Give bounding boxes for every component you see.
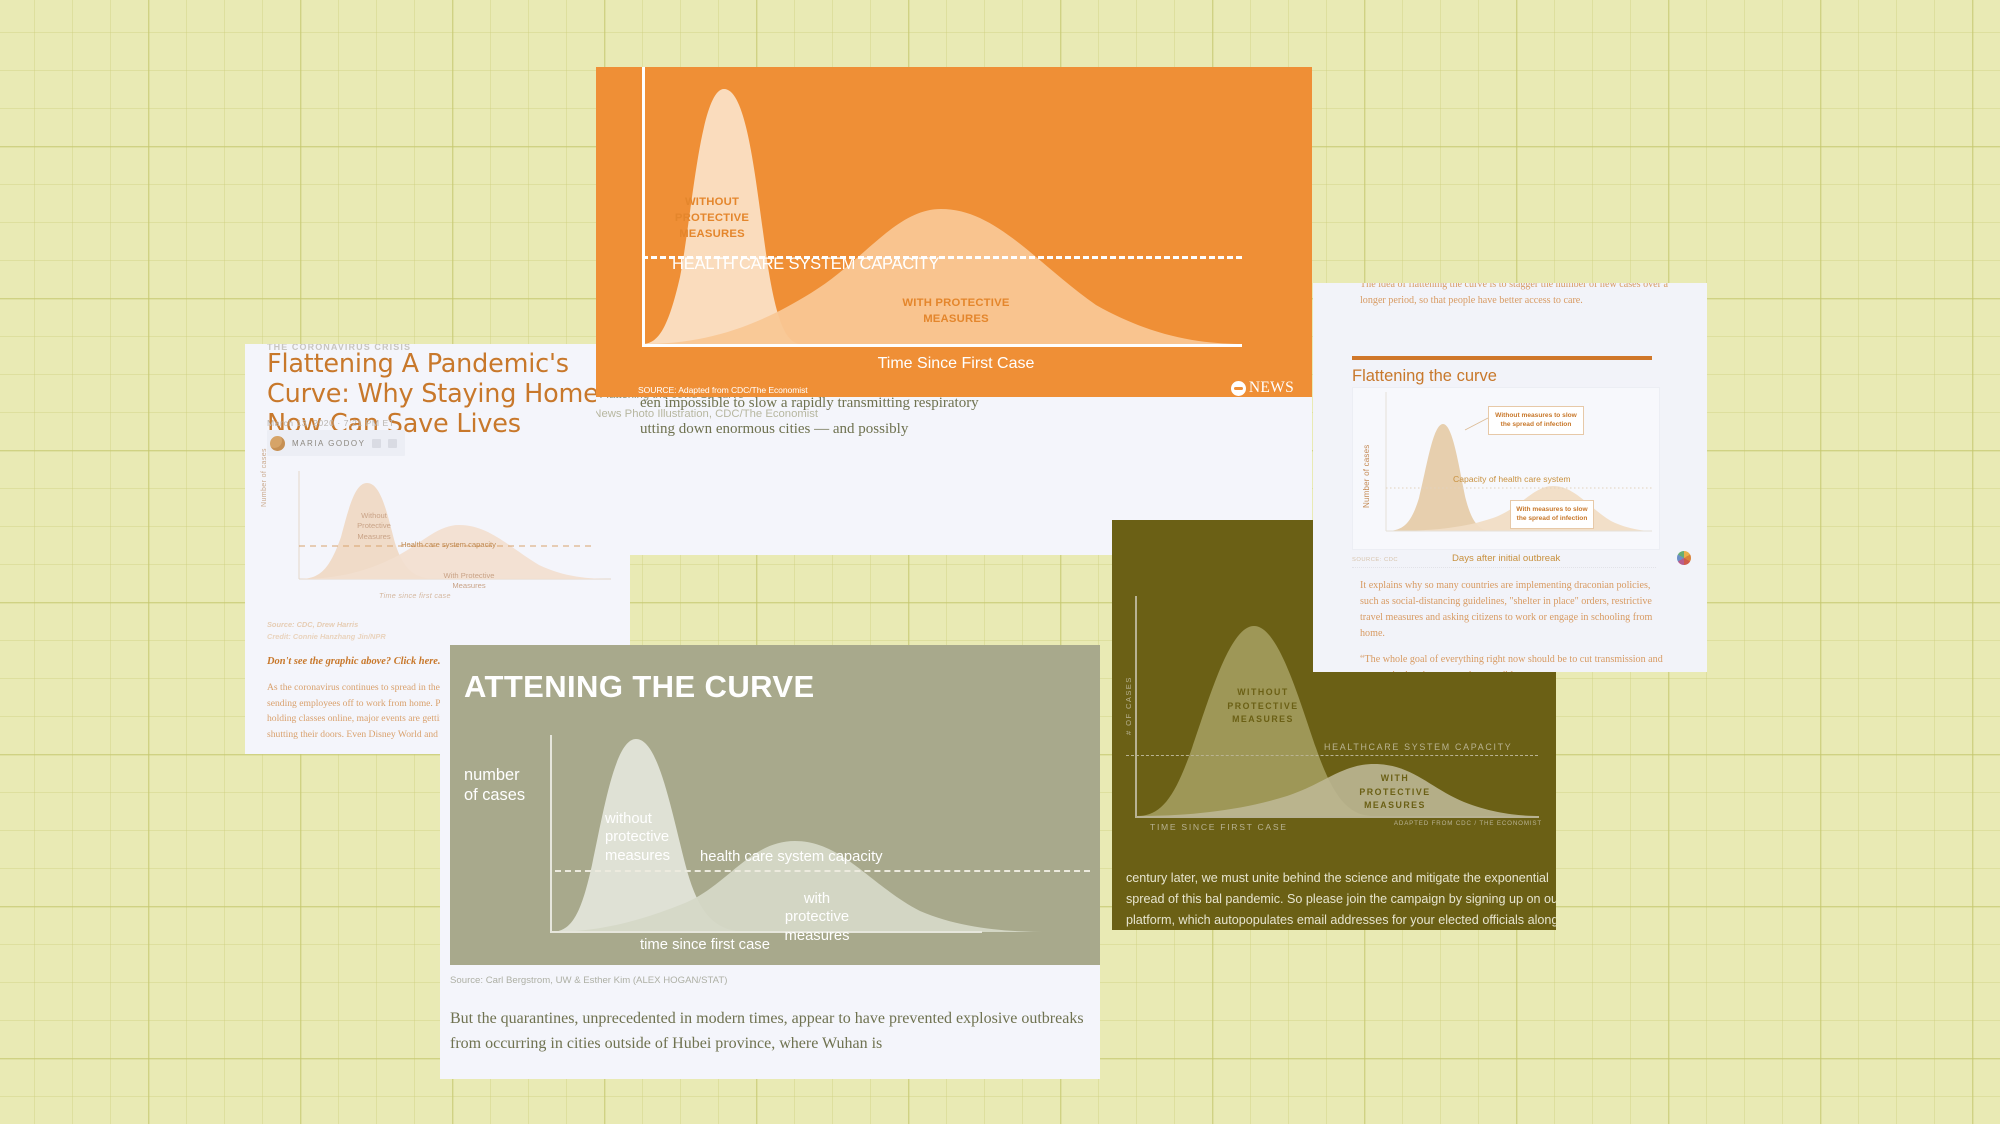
nbc-chart-title: Flattening the curve	[1352, 367, 1497, 386]
nbc-threshold-label: Capacity of health care system	[1453, 474, 1571, 484]
behind-body-line-2: utting down enormous cities — and possib…	[640, 421, 908, 438]
nbc-paragraph-2: “The whole goal of everything right now …	[1360, 652, 1665, 672]
npr-label-with: With ProtectiveMeasures	[427, 571, 511, 592]
dark-x-axis-label: TIME SINCE FIRST CASE	[1150, 822, 1288, 832]
nbc-intro-text: The idea of flattening the curve is to s…	[1360, 283, 1670, 309]
dark-y-axis-label: # OF CASES	[1124, 676, 1133, 735]
dark-source: ADAPTED FROM CDC / THE ECONOMIST	[1394, 820, 1542, 827]
abc-x-axis	[642, 344, 1242, 347]
dark-y-axis	[1135, 596, 1137, 818]
stat-capacity-line	[555, 870, 1090, 872]
npr-credit-source: Source: CDC, Drew Harris	[267, 620, 358, 629]
abc-news-wordmark: NEWS	[1249, 379, 1294, 397]
nbc-divider	[1352, 567, 1656, 568]
stat-y-axis	[550, 735, 552, 933]
abc-y-axis	[642, 67, 645, 346]
stat-x-axis-label: time since first case	[640, 937, 770, 953]
nbc-peacock-icon	[1677, 551, 1691, 565]
nbc-chart: Number of cases Capacity of health care …	[1352, 387, 1660, 550]
stat-threshold-label: health care system capacity	[700, 849, 883, 865]
behind-body-line-1: een impossible to slow a rapidly transmi…	[640, 397, 979, 412]
abc-news-logo: NEWS	[1231, 379, 1294, 397]
stat-article-panel: ATTENING THE CURVE numberof cases health…	[440, 645, 1100, 1079]
stat-label-without: withoutprotectivemeasures	[605, 810, 715, 865]
stat-label-with: withprotectivemeasures	[762, 890, 872, 945]
npr-byline: MARIA GODOY	[267, 430, 405, 456]
nbc-article-panel: The idea of flattening the curve is to s…	[1313, 283, 1707, 672]
abc-label-with: WITH PROTECTIVEMEASURES	[866, 295, 1046, 327]
stat-body-text: But the quarantines, unprecedented in mo…	[450, 1007, 1090, 1057]
dark-label-with: WITHPROTECTIVEMEASURES	[1352, 772, 1438, 813]
dark-capacity-line	[1126, 755, 1538, 756]
abc-label-without: WITHOUTPROTECTIVEMEASURES	[667, 194, 757, 242]
dark-threshold-label: HEALTHCARE SYSTEM CAPACITY	[1324, 742, 1512, 752]
npr-timestamp: March 13, 2020 · 7:21 PM ET	[267, 418, 395, 428]
nbc-x-axis-label: Days after initial outbreak	[1452, 553, 1560, 564]
twitter-icon[interactable]	[388, 439, 397, 448]
facebook-icon[interactable]	[372, 439, 381, 448]
abc-news-graphic-panel: HEALTH CARE SYSTEM CAPACITY WITHOUTPROTE…	[596, 67, 1312, 397]
npr-y-axis-label: Number of cases	[261, 448, 268, 507]
npr-credit-line: Credit: Connie Hanzhang Jin/NPR	[267, 632, 386, 641]
npr-click-here-link[interactable]: Don't see the graphic above? Click here.	[267, 656, 440, 667]
dark-body-text: century later, we must unite behind the …	[1126, 868, 1556, 930]
nbc-paragraph-1: It explains why so many countries are im…	[1360, 578, 1665, 643]
dark-label-without: WITHOUTPROTECTIVEMEASURES	[1220, 686, 1306, 727]
dark-x-axis	[1135, 816, 1539, 818]
npr-label-without: WithoutProtectiveMeasures	[339, 511, 409, 542]
abc-source: SOURCE: Adapted from CDC/The Economist	[638, 385, 808, 395]
nbc-source: SOURCE: CDC	[1352, 557, 1398, 563]
abc-x-axis-label: Time Since First Case	[856, 355, 1056, 373]
nbc-accent-rule	[1352, 356, 1652, 360]
nbc-annotation-without: Without measures to slow the spread of i…	[1488, 406, 1584, 435]
abc-threshold-label: HEALTH CARE SYSTEM CAPACITY	[672, 255, 939, 274]
npr-author: MARIA GODOY	[292, 439, 365, 448]
abc-circle-icon	[1231, 381, 1246, 396]
nbc-annotation-with: With measures to slow the spread of infe…	[1510, 500, 1594, 529]
npr-x-axis-label: Time since first case	[379, 591, 451, 600]
npr-chart: Number of cases WithoutProtectiveMeasure…	[259, 467, 617, 607]
nbc-body-text: It explains why so many countries are im…	[1360, 578, 1665, 672]
avatar	[270, 436, 285, 451]
npr-threshold-label: Health care system capacity	[401, 540, 496, 549]
stat-graphic: ATTENING THE CURVE numberof cases health…	[450, 645, 1100, 965]
stat-source: Source: Carl Bergstrom, UW & Esther Kim …	[450, 975, 727, 986]
